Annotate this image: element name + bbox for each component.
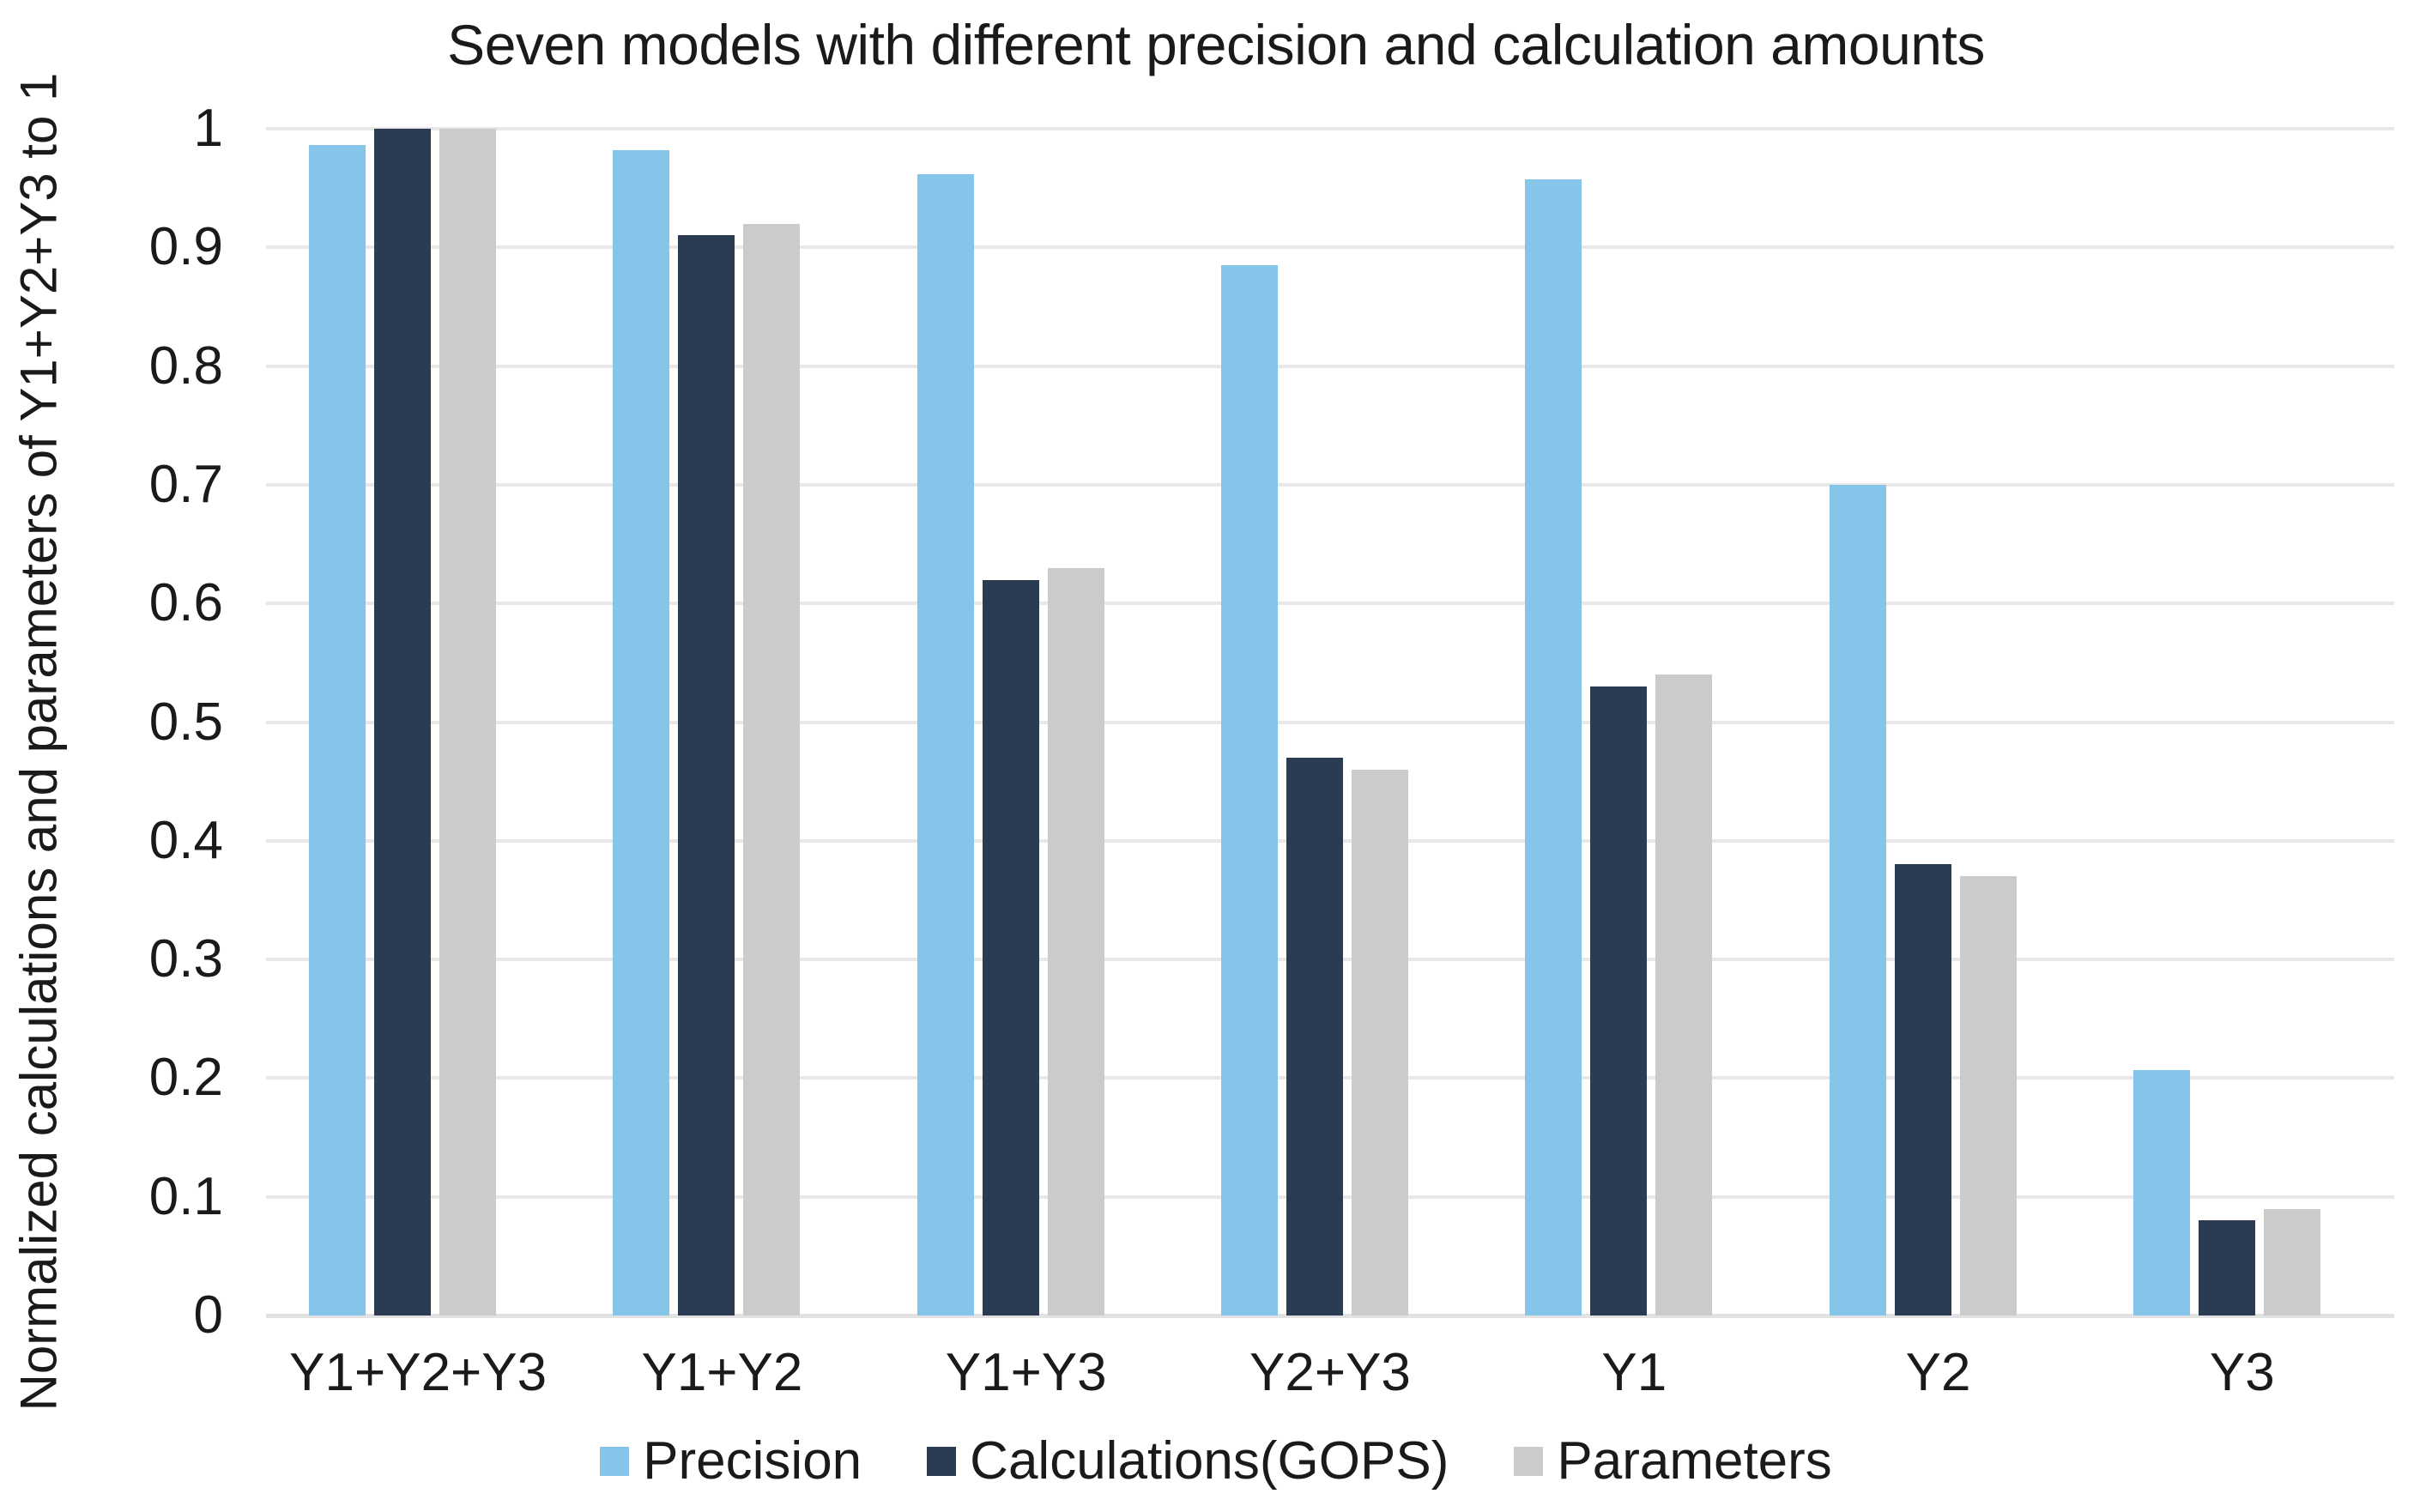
- bar-calculations[interactable]: [678, 235, 735, 1315]
- bar-precision[interactable]: [917, 174, 974, 1315]
- y-axis-tick-label: 0.6: [0, 577, 223, 630]
- bar-group: [613, 129, 800, 1315]
- bar-calculations[interactable]: [374, 129, 431, 1315]
- bar-precision[interactable]: [1221, 265, 1278, 1315]
- legend-item-calculations[interactable]: Calculations(GOPS): [927, 1435, 1449, 1488]
- y-axis-tick-label: 0.4: [0, 814, 223, 868]
- x-axis-label-Y2-Y3: Y2+Y3: [1178, 1339, 1482, 1407]
- y-axis-tick-label: 1: [0, 102, 223, 155]
- legend-swatch-icon: [600, 1447, 629, 1476]
- y-axis-tick-label: 0.3: [0, 933, 223, 986]
- bar-group: [917, 129, 1104, 1315]
- bar-group: [2133, 129, 2320, 1315]
- x-axis-labels: Y1+Y2+Y3Y1+Y2Y1+Y3Y2+Y3Y1Y2Y3: [266, 1339, 2394, 1416]
- bar-precision[interactable]: [1830, 485, 1886, 1315]
- chart-legend: PrecisionCalculations(GOPS)Parameters: [0, 1435, 2432, 1488]
- bar-precision[interactable]: [309, 145, 366, 1315]
- bar-parameters[interactable]: [1655, 674, 1712, 1315]
- bar-calculations[interactable]: [1895, 864, 1951, 1315]
- x-axis-label-Y2: Y2: [1786, 1339, 2090, 1407]
- bar-parameters[interactable]: [743, 224, 800, 1315]
- y-axis-tick-label: 0.8: [0, 340, 223, 393]
- y-axis-tick-label: 0.5: [0, 696, 223, 749]
- bar-parameters[interactable]: [2264, 1209, 2320, 1315]
- bar-calculations[interactable]: [1286, 758, 1343, 1315]
- legend-label: Calculations(GOPS): [970, 1435, 1449, 1488]
- legend-label: Parameters: [1557, 1435, 1831, 1488]
- bar-precision[interactable]: [1525, 179, 1582, 1315]
- y-axis-tick-label: 0.7: [0, 458, 223, 511]
- bar-calculations[interactable]: [983, 580, 1039, 1315]
- bars-layer: [266, 129, 2394, 1315]
- y-axis-tick-label: 0.1: [0, 1170, 223, 1224]
- bar-parameters[interactable]: [1048, 568, 1104, 1315]
- x-axis-label-Y1-Y2: Y1+Y2: [570, 1339, 874, 1407]
- chart-title: Seven models with different precision an…: [0, 12, 2432, 77]
- bar-chart: Seven models with different precision an…: [0, 0, 2432, 1512]
- bar-group: [309, 129, 496, 1315]
- bar-group: [1525, 129, 1712, 1315]
- x-axis-label-Y1-Y3: Y1+Y3: [874, 1339, 1178, 1407]
- legend-swatch-icon: [927, 1447, 956, 1476]
- y-axis-tick-label: 0.9: [0, 221, 223, 274]
- bar-parameters[interactable]: [439, 129, 496, 1315]
- x-axis-label-Y1: Y1: [1482, 1339, 1786, 1407]
- x-axis-label-Y1-Y2-Y3: Y1+Y2+Y3: [266, 1339, 570, 1407]
- bar-precision[interactable]: [613, 150, 669, 1315]
- legend-item-parameters[interactable]: Parameters: [1514, 1435, 1831, 1488]
- bar-parameters[interactable]: [1960, 876, 2017, 1315]
- x-axis-label-Y3: Y3: [2090, 1339, 2394, 1407]
- bar-calculations[interactable]: [1590, 686, 1647, 1315]
- legend-item-precision[interactable]: Precision: [600, 1435, 862, 1488]
- bar-precision[interactable]: [2133, 1070, 2190, 1315]
- bar-group: [1221, 129, 1408, 1315]
- y-axis-tick-label: 0.2: [0, 1051, 223, 1104]
- bar-group: [1830, 129, 2017, 1315]
- legend-label: Precision: [643, 1435, 862, 1488]
- y-axis-tick-label: 0: [0, 1289, 223, 1342]
- bar-parameters[interactable]: [1352, 770, 1408, 1315]
- legend-swatch-icon: [1514, 1447, 1543, 1476]
- bar-calculations[interactable]: [2199, 1220, 2255, 1315]
